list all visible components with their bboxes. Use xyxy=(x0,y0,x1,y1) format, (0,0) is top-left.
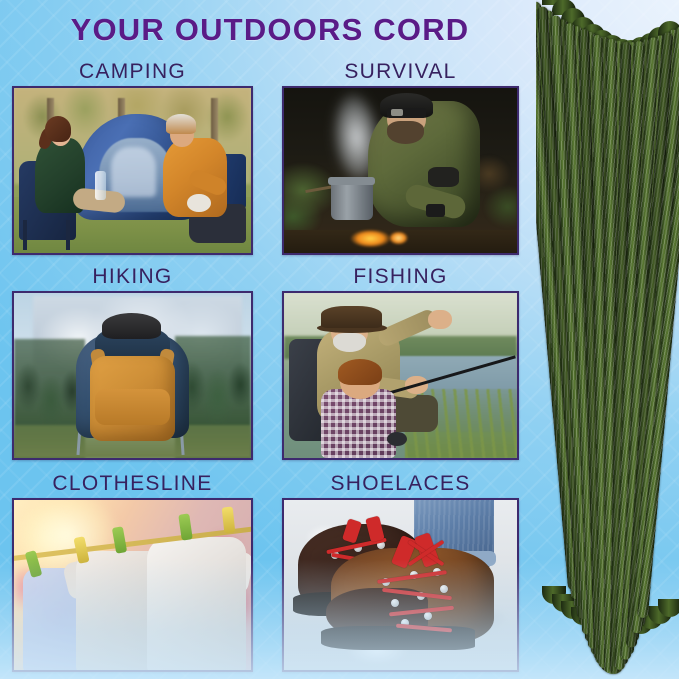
use-case-label-fishing: FISHING xyxy=(282,263,519,291)
use-case-photo-clothesline xyxy=(12,498,253,672)
use-case-grid: CAMPING xyxy=(0,58,530,676)
use-case-fishing: FISHING xyxy=(282,263,519,460)
use-case-label-survival: SURVIVAL xyxy=(282,58,519,86)
use-case-label-hiking: HIKING xyxy=(12,263,253,291)
use-case-label-clothesline: CLOTHESLINE xyxy=(12,470,253,498)
use-case-label-camping: CAMPING xyxy=(12,58,253,86)
use-case-photo-shoelaces xyxy=(282,498,519,672)
use-case-photo-survival xyxy=(282,86,519,255)
use-case-hiking: HIKING xyxy=(12,263,253,460)
use-case-photo-hiking xyxy=(12,291,253,460)
infographic-canvas: YOUR OUTDOORS CORD CAMPING xyxy=(0,0,679,679)
use-case-clothesline: CLOTHESLINE xyxy=(12,470,253,672)
page-title: YOUR OUTDOORS CORD xyxy=(0,12,540,48)
use-case-camping: CAMPING xyxy=(12,58,253,255)
use-case-shoelaces: SHOELACES xyxy=(282,470,519,672)
use-case-label-shoelaces: SHOELACES xyxy=(282,470,519,498)
use-case-survival: SURVIVAL xyxy=(282,58,519,255)
paracord-hank xyxy=(536,0,679,679)
use-case-photo-fishing xyxy=(282,291,519,460)
use-case-photo-camping xyxy=(12,86,253,255)
